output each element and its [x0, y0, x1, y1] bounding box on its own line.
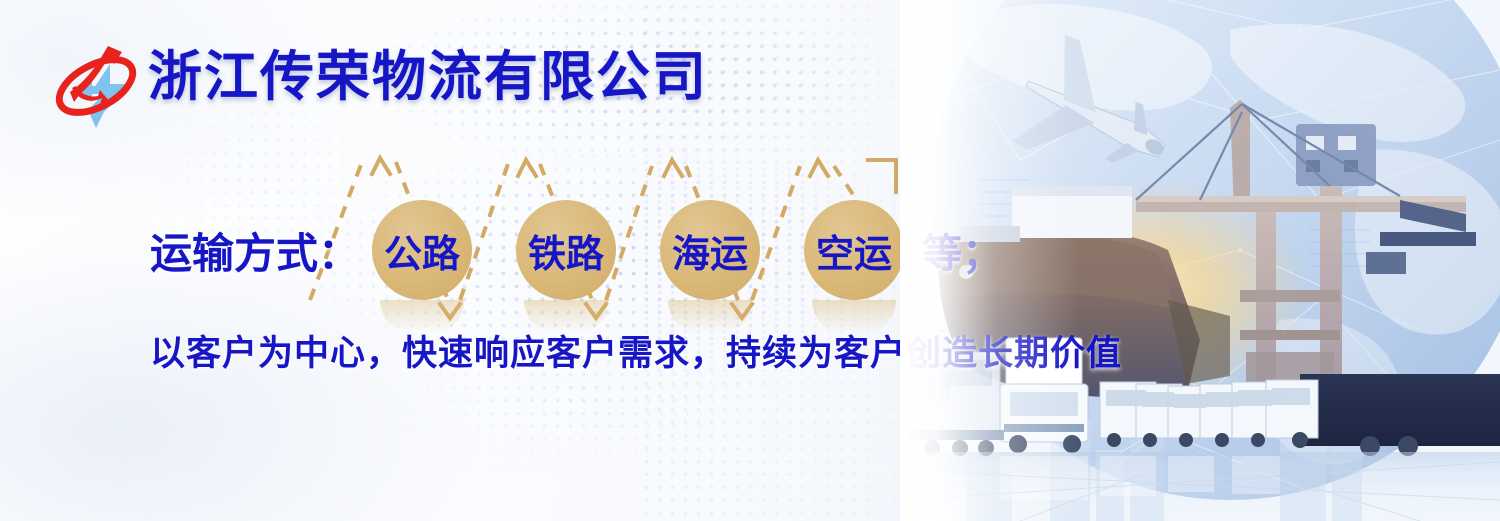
transport-mode-air[interactable]: 空运	[804, 200, 904, 300]
transport-modes-row: 运输方式： 公路 铁路 海运 空运 等；	[150, 200, 1002, 300]
company-banner: 浙江传荣物流有限公司	[0, 0, 1500, 521]
transport-mode-road[interactable]: 公路	[372, 200, 472, 300]
transport-mode-sea[interactable]: 海运	[660, 200, 760, 300]
transport-mode-label: 铁路	[528, 223, 604, 278]
transport-label: 运输方式：	[150, 220, 360, 281]
transport-mode-label: 海运	[672, 223, 748, 278]
transport-mode-label: 空运	[816, 223, 892, 278]
transport-suffix: 等；	[922, 221, 1002, 279]
transport-mode-rail[interactable]: 铁路	[516, 200, 616, 300]
page-title: 浙江传荣物流有限公司	[148, 47, 708, 106]
company-logo	[48, 38, 144, 134]
tagline: 以客户为中心，快速响应客户需求，持续为客户创造长期价值	[150, 325, 1122, 376]
transport-mode-label: 公路	[384, 223, 460, 278]
